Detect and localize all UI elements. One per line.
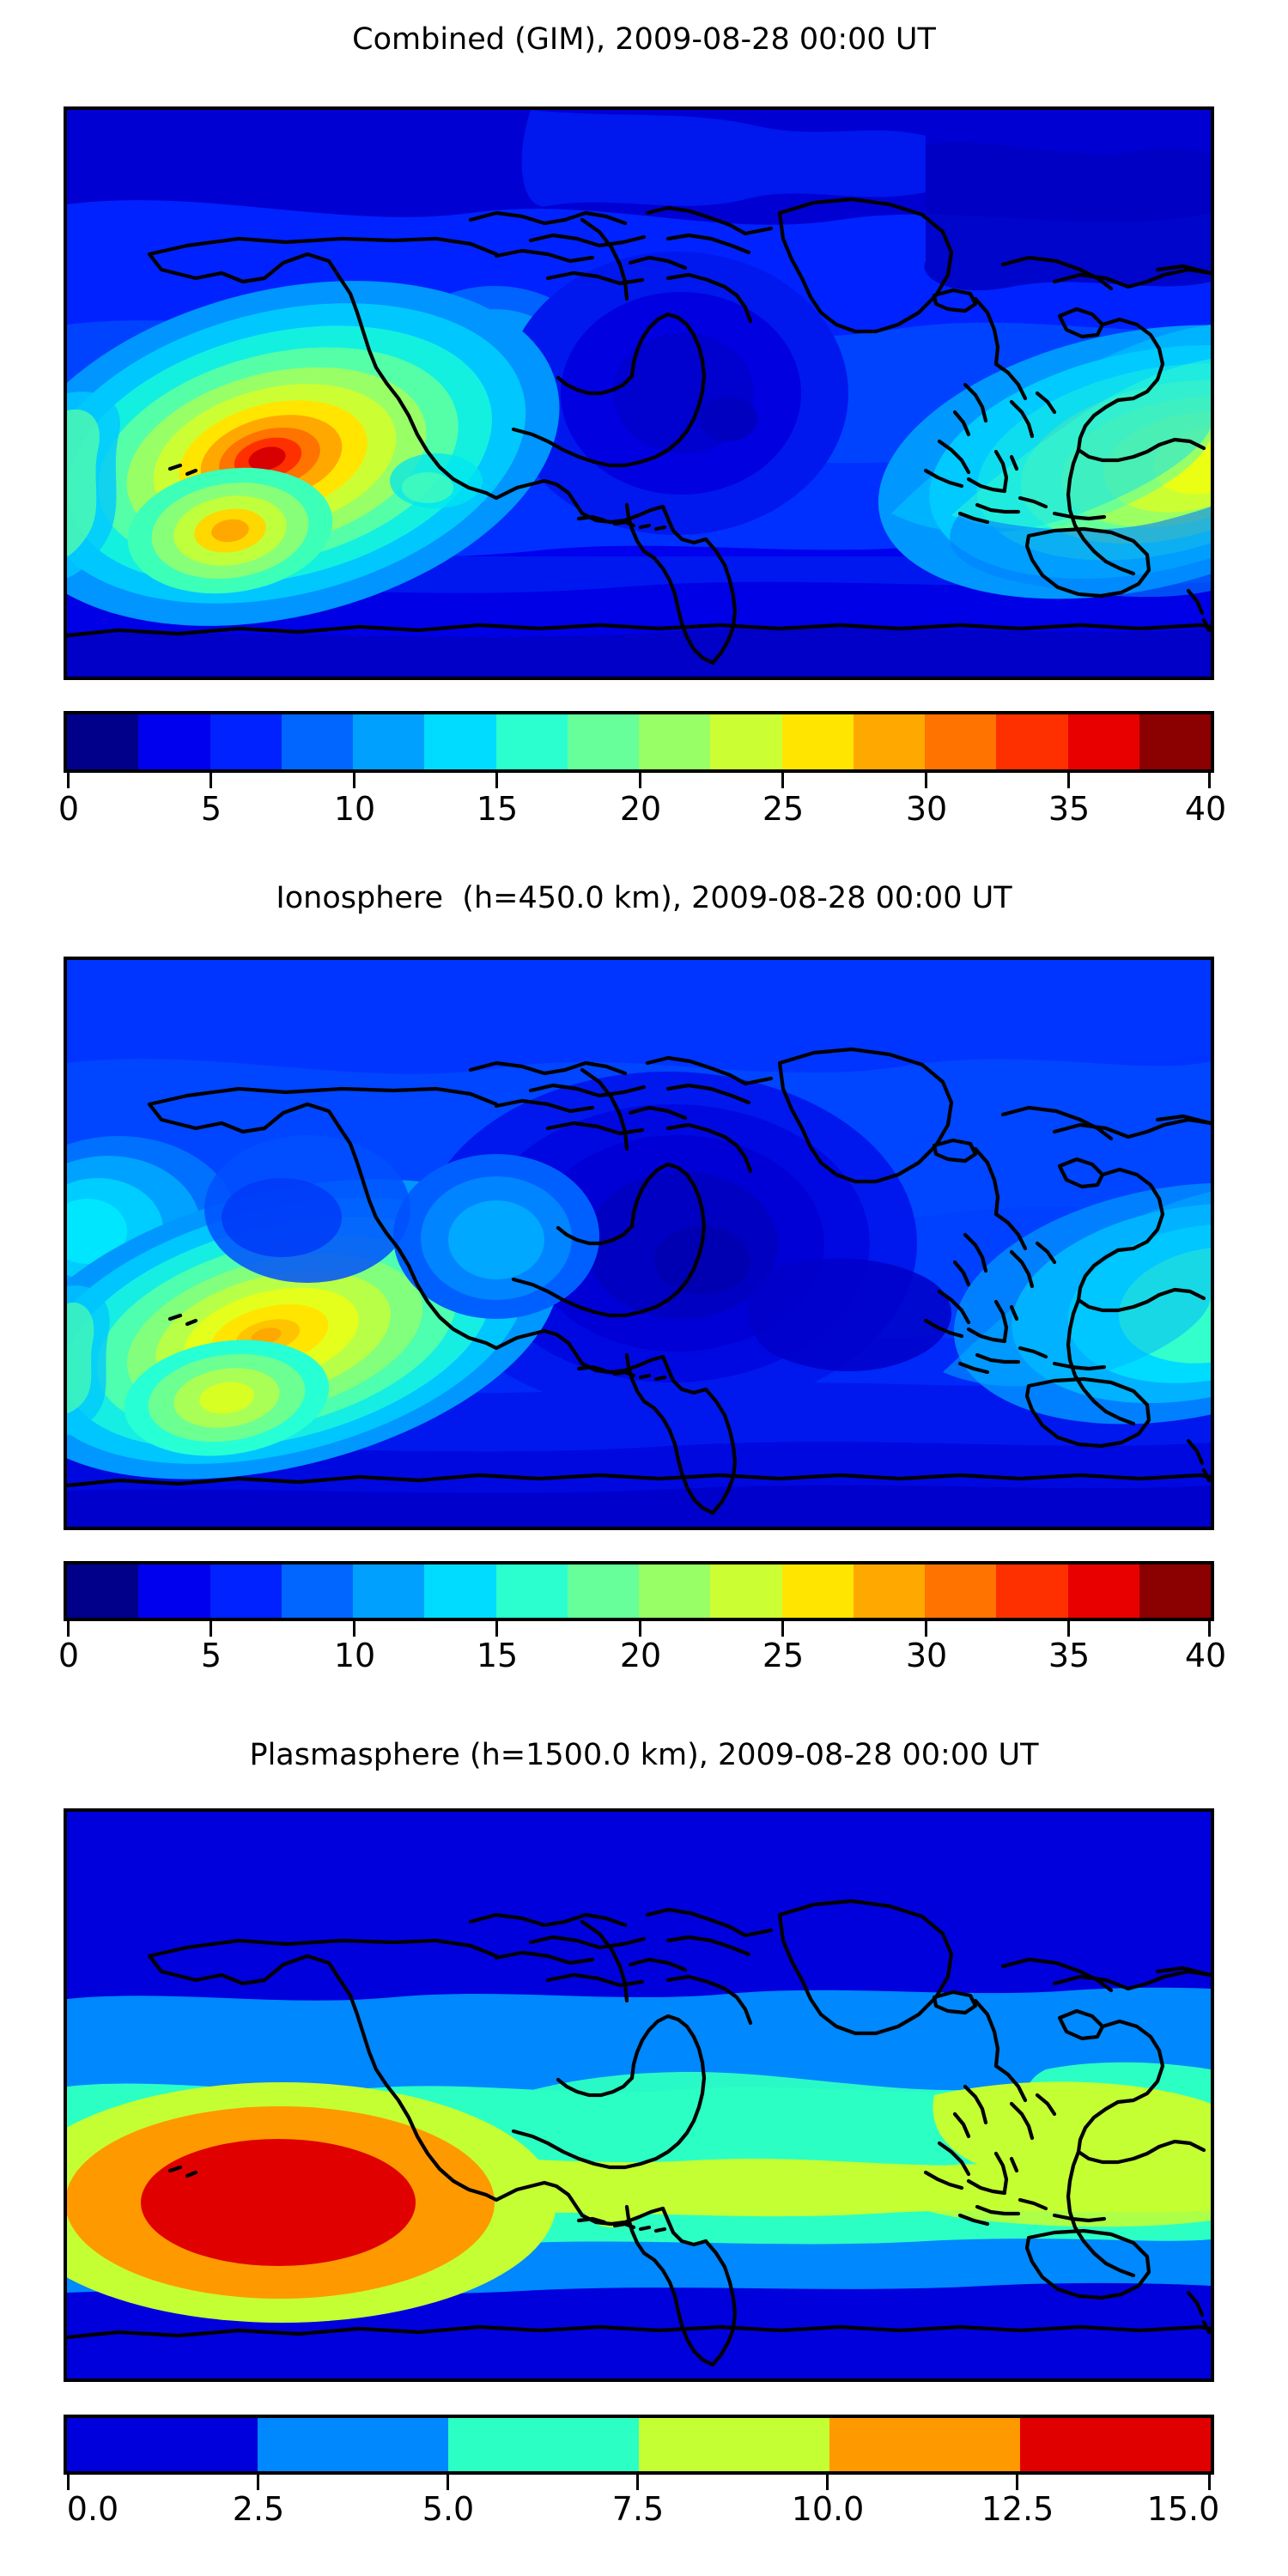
- colorbar-ticklabels-combined-gim: 0 5 10 15 20 25 30 35 40: [67, 790, 1211, 829]
- panel-title-ionosphere: Ionosphere (h=450.0 km), 2009-08-28 00:0…: [0, 879, 1288, 917]
- panel-title-plasmasphere: Plasmasphere (h=1500.0 km), 2009-08-28 0…: [0, 1736, 1288, 1774]
- cb1-tick-10: 10: [334, 790, 375, 828]
- cb3-tick-7p5: 7.5: [612, 2490, 664, 2528]
- cb1-tick-20: 20: [620, 790, 661, 828]
- colorbar-ticks-combined-gim: [67, 769, 1211, 788]
- cb2-tick-35: 35: [1048, 1637, 1090, 1674]
- colorbar-ticks-ionosphere: [67, 1618, 1211, 1637]
- map-plot-ionosphere: [64, 957, 1214, 1530]
- colorbar-combined-gim: [64, 711, 1214, 773]
- cb2-tick-25: 25: [762, 1637, 804, 1674]
- panel-plasmasphere: Plasmasphere (h=1500.0 km), 2009-08-28 0…: [0, 1717, 1288, 2576]
- colorbar-bands-combined-gim: [67, 714, 1211, 769]
- panel-combined-gim: Combined (GIM), 2009-08-28 00:00 UT: [0, 0, 1288, 859]
- cb1-tick-35: 35: [1048, 790, 1090, 828]
- cb1-tick-40: 40: [1185, 790, 1226, 828]
- cb2-tick-0: 0: [58, 1637, 79, 1674]
- contour-field-ionosphere: [67, 960, 1211, 1527]
- cb1-tick-15: 15: [477, 790, 518, 828]
- cb2-tick-20: 20: [620, 1637, 661, 1674]
- cb3-tick-15: 15.0: [1147, 2490, 1220, 2528]
- cb3-tick-0: 0.0: [67, 2490, 118, 2528]
- panel-title-combined-gim: Combined (GIM), 2009-08-28 00:00 UT: [0, 21, 1288, 58]
- contour-field-plasmasphere: [67, 1812, 1211, 2379]
- cb3-tick-10: 10.0: [792, 2490, 865, 2528]
- panel-ionosphere: Ionosphere (h=450.0 km), 2009-08-28 00:0…: [0, 859, 1288, 1717]
- colorbar-bands-ionosphere: [67, 1564, 1211, 1618]
- colorbar-ticks-plasmasphere: [67, 2471, 1211, 2490]
- colorbar-ionosphere: [64, 1561, 1214, 1621]
- cb2-tick-15: 15: [477, 1637, 518, 1674]
- cb1-tick-5: 5: [201, 790, 222, 828]
- cb1-tick-30: 30: [906, 790, 947, 828]
- colorbar-ticklabels-ionosphere: 0 5 10 15 20 25 30 35 40: [67, 1637, 1211, 1676]
- cb2-tick-40: 40: [1185, 1637, 1226, 1674]
- cb3-tick-5: 5.0: [422, 2490, 474, 2528]
- cb3-tick-12p5: 12.5: [981, 2490, 1054, 2528]
- colorbar-bands-plasmasphere: [67, 2418, 1211, 2471]
- cb3-tick-2p5: 2.5: [233, 2490, 284, 2528]
- colorbar-plasmasphere: [64, 2415, 1214, 2475]
- contour-field-combined-gim: [67, 110, 1211, 677]
- figure-canvas: Combined (GIM), 2009-08-28 00:00 UT: [0, 0, 1288, 2576]
- cb2-tick-5: 5: [201, 1637, 222, 1674]
- colorbar-ticklabels-plasmasphere: 0.0 2.5 5.0 7.5 10.0 12.5 15.0: [67, 2490, 1211, 2530]
- map-plot-plasmasphere: [64, 1808, 1214, 2382]
- cb1-tick-0: 0: [58, 790, 79, 828]
- map-plot-combined-gim: [64, 106, 1214, 680]
- cb2-tick-30: 30: [906, 1637, 947, 1674]
- cb1-tick-25: 25: [762, 790, 804, 828]
- cb2-tick-10: 10: [334, 1637, 375, 1674]
